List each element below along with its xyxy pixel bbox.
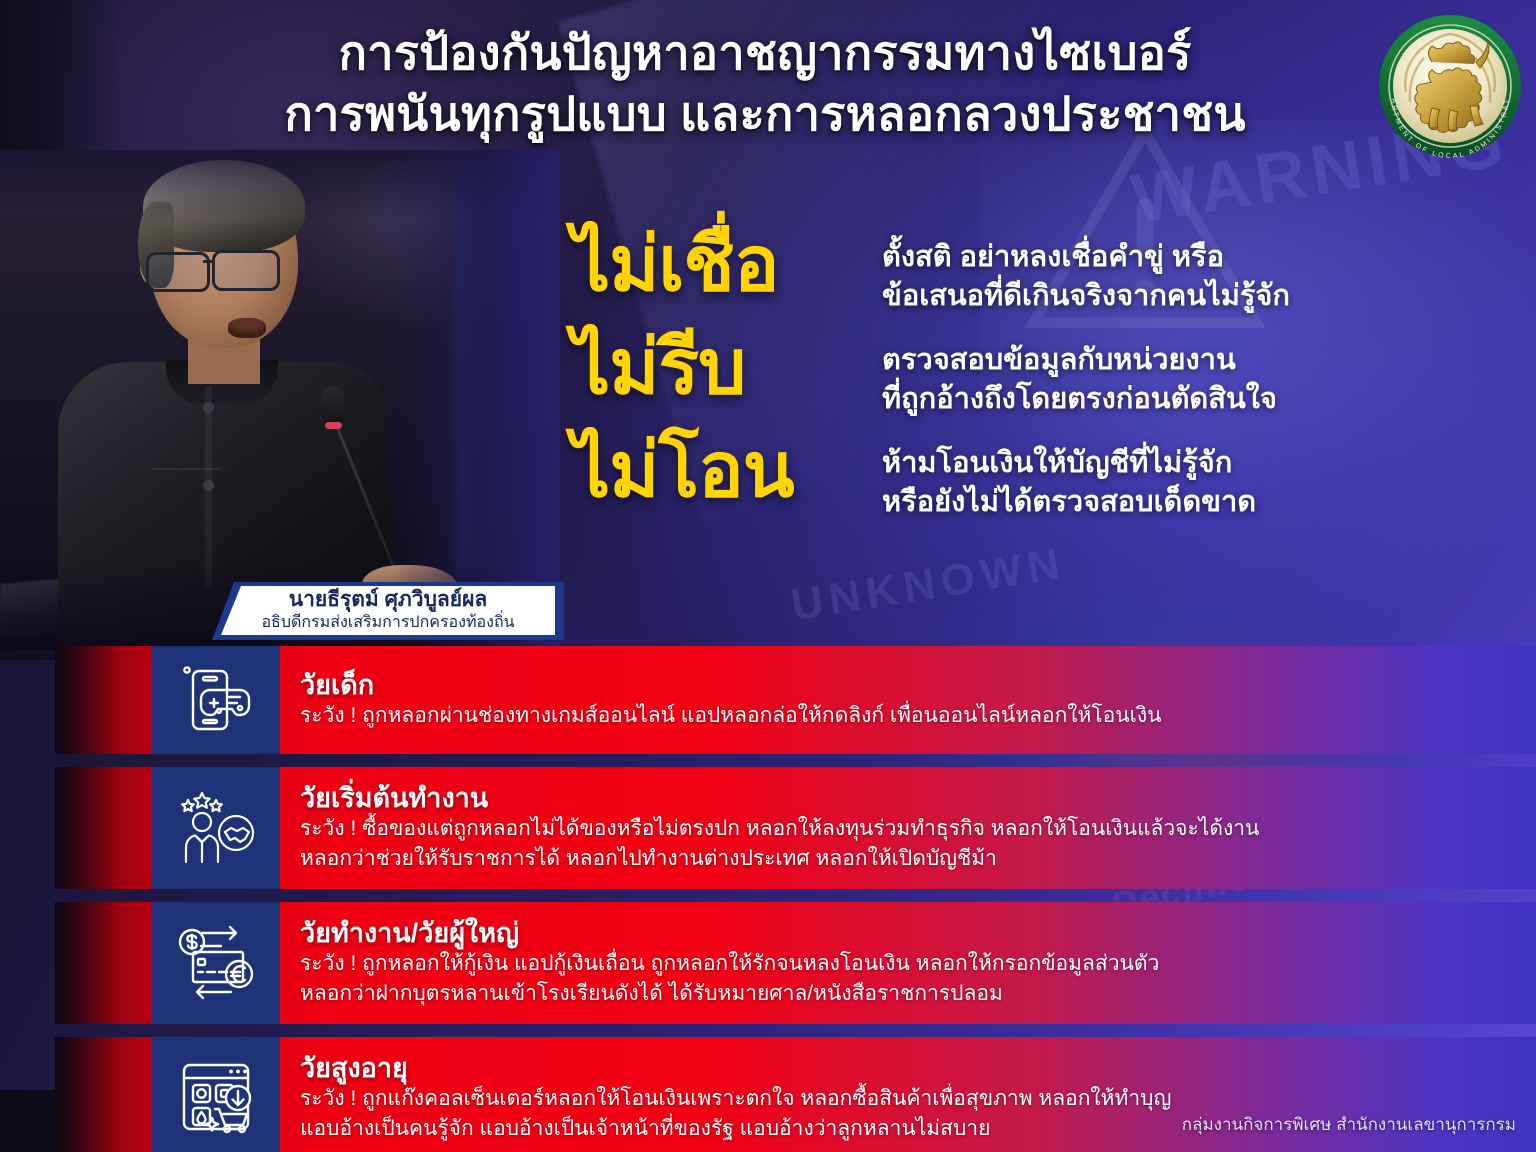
age-group-title: วัยเริ่มต้นทำงาน: [300, 783, 1446, 814]
microphone-ring: [325, 422, 342, 429]
money-transfer-card-icon: [175, 922, 257, 1004]
infographic-poster: WARNING UNKNOWN Accept Decline การป้องกั…: [0, 0, 1536, 1152]
speaker-role: อธิบดีกรมส่งเสริมการปกครองท้องถิ่น: [261, 613, 514, 633]
age-group-text: วัยเด็ก ระวัง ! ถูกหลอกผ่านช่องทางเกมส์อ…: [300, 646, 1446, 754]
speaker-photo: [0, 150, 560, 650]
photo-mouth: [228, 318, 266, 338]
page-title: การป้องกันปัญหาอาชญากรรมทางไซเบอร์ การพน…: [170, 22, 1360, 144]
age-group-icon-box: [152, 767, 280, 889]
age-group-title: วัยเด็ก: [300, 670, 1446, 701]
age-group-line-2: หลอกว่าช่วยให้รับราชการได้ หลอกไปทำงานต่…: [300, 844, 1446, 873]
photo-right-fade: [390, 150, 560, 650]
age-group-line-1: ระวัง ! ถูกหลอกผ่านช่องทางเกมส์ออนไลน์ แ…: [300, 701, 1446, 730]
slogan-key-3: ไม่โอน: [572, 428, 882, 514]
age-group-text: วัยทำงาน/วัยผู้ใหญ่ ระวัง ! ถูกหลอกให้กู…: [300, 902, 1446, 1024]
unknown-watermark: UNKNOWN: [788, 539, 1069, 632]
eyeglasses-bridge: [203, 260, 215, 263]
smartphone-game-controller-icon: [177, 661, 255, 739]
photo-pocket: [150, 468, 222, 496]
slogan-desc-1-line1: ตั้งสติ อย่าหลงเชื่อคำขู่ หรือ: [882, 238, 1472, 277]
speaker-nameplate: นายธีรุตม์ ศุภวิบูลย์ผล อธิบดีกรมส่งเสริ…: [212, 582, 564, 640]
online-shopping-cart-icon: [175, 1057, 257, 1139]
age-group-icon-box: [152, 902, 280, 1024]
age-group-line-1: ระวัง ! ซื้อของแต่ถูกหลอกไม่ได้ของหรือไม…: [300, 814, 1446, 843]
footer-credit: กลุ่มงานกิจการพิเศษ สำนักงานเลขานุการกรม: [1182, 1111, 1516, 1138]
department-seal-icon: กรมส่งเสริมการปกครองท้องถิ่น DEPARTMENT …: [1376, 12, 1524, 160]
age-group-title: วัยทำงาน/วัยผู้ใหญ่: [300, 918, 1446, 949]
photo-canvas: [0, 150, 560, 650]
slogan-row-1: ไม่เชื่อ ตั้งสติ อย่าหลงเชื่อคำขู่ หรือ …: [572, 222, 1472, 315]
slogan-desc-2-line1: ตรวจสอบข้อมูลกับหน่วยงาน: [882, 341, 1472, 380]
slogan-key-1: ไม่เชื่อ: [572, 222, 882, 308]
age-group-list: วัยเด็ก ระวัง ! ถูกหลอกผ่านช่องทางเกมส์อ…: [0, 646, 1536, 1152]
age-group-row-child: วัยเด็ก ระวัง ! ถูกหลอกผ่านช่องทางเกมส์อ…: [0, 646, 1536, 754]
slogan-desc-3: ห้ามโอนเงินให้บัญชีที่ไม่รู้จัก หรือยังไ…: [882, 428, 1472, 521]
age-group-line-2: หลอกว่าฝากบุตรหลานเข้าโรงเรียนดังได้ ได้…: [300, 979, 1446, 1008]
age-group-text: วัยเริ่มต้นทำงาน ระวัง ! ซื้อของแต่ถูกหล…: [300, 767, 1446, 889]
title-line-1: การป้องกันปัญหาอาชญากรรมทางไซเบอร์: [170, 22, 1360, 83]
slogan-desc-1: ตั้งสติ อย่าหลงเชื่อคำขู่ หรือ ข้อเสนอที…: [882, 222, 1472, 315]
age-group-line-1: ระวัง ! ถูกแก๊งคอลเซ็นเตอร์หลอกให้โอนเงิ…: [300, 1084, 1446, 1113]
slogan-desc-2-line2: ที่ถูกอ้างถึงโดยตรงก่อนตัดสินใจ: [882, 380, 1472, 419]
age-group-icon-box: [152, 1037, 280, 1152]
eyeglasses-left-lens: [146, 252, 210, 292]
slogan-block: ไม่เชื่อ ตั้งสติ อย่าหลงเชื่อคำขู่ หรือ …: [572, 222, 1472, 521]
slogan-desc-1-line2: ข้อเสนอที่ดีเกินจริงจากคนไม่รู้จัก: [882, 277, 1472, 316]
age-group-line-1: ระวัง ! ถูกหลอกให้กู้เงิน แอปกู้เงินเถื่…: [300, 949, 1446, 978]
slogan-key-2: ไม่รีบ: [572, 325, 882, 411]
title-line-2: การพนันทุกรูปแบบ และการหลอกลวงประชาชน: [170, 83, 1360, 144]
slogan-row-2: ไม่รีบ ตรวจสอบข้อมูลกับหน่วยงาน ที่ถูกอ้…: [572, 325, 1472, 418]
speaker-name: นายธีรุตม์ ศุภวิบูลย์ผล: [289, 588, 488, 611]
slogan-desc-3-line2: หรือยังไม่ได้ตรวจสอบเด็ดขาด: [882, 483, 1472, 522]
nameplate-white-panel: นายธีรุตม์ ศุภวิบูลย์ผล อธิบดีกรมส่งเสริ…: [221, 586, 555, 635]
photo-button-upper: [203, 402, 214, 413]
age-group-title: วัยสูงอายุ: [300, 1053, 1446, 1084]
person-handshake-stars-icon: [175, 787, 257, 869]
slogan-desc-2: ตรวจสอบข้อมูลกับหน่วยงาน ที่ถูกอ้างถึงโด…: [882, 325, 1472, 418]
age-group-icon-box: [152, 646, 280, 754]
slogan-row-3: ไม่โอน ห้ามโอนเงินให้บัญชีที่ไม่รู้จัก ห…: [572, 428, 1472, 521]
slogan-desc-3-line1: ห้ามโอนเงินให้บัญชีที่ไม่รู้จัก: [882, 444, 1472, 483]
age-group-row-early-career: วัยเริ่มต้นทำงาน ระวัง ! ซื้อของแต่ถูกหล…: [0, 767, 1536, 889]
age-group-row-working-adult: วัยทำงาน/วัยผู้ใหญ่ ระวัง ! ถูกหลอกให้กู…: [0, 902, 1536, 1024]
eyeglasses-right-lens: [212, 250, 280, 291]
